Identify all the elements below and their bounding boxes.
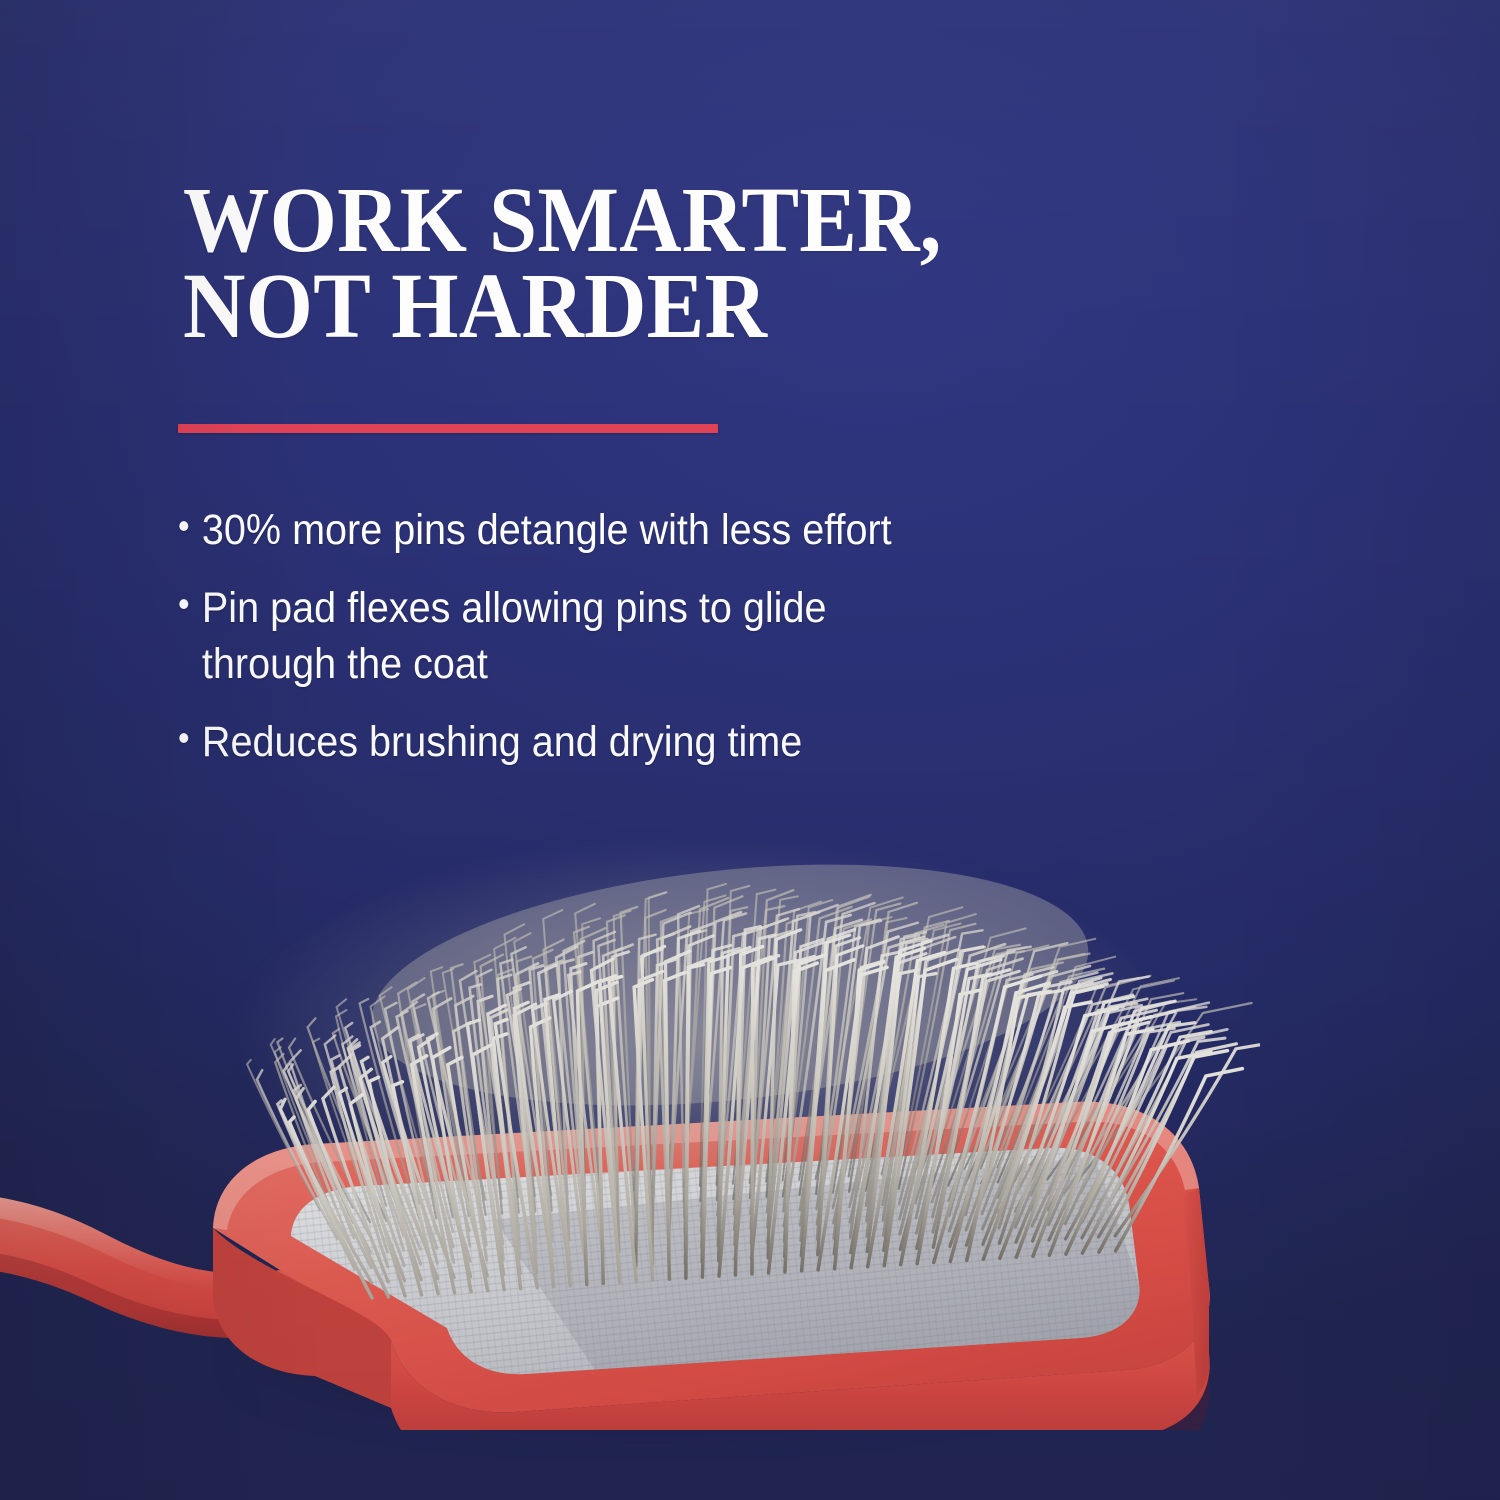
list-item: • Reduces brushing and drying time [178, 715, 1006, 771]
page-title: WORK SMARTER, NOT HARDER [183, 178, 1020, 349]
divider-rule [178, 424, 718, 433]
list-item: • 30% more pins detangle with less effor… [178, 503, 1006, 559]
headline-line-2: NOT HARDER [183, 264, 1020, 350]
bullet-dot-icon: • [178, 581, 202, 628]
list-item-label: 30% more pins detangle with less effort [202, 503, 1006, 559]
list-item-label: Pin pad flexes allowing pins to glide th… [202, 581, 877, 693]
benefits-list: • 30% more pins detangle with less effor… [178, 503, 1078, 793]
bullet-dot-icon: • [178, 715, 202, 762]
list-item-label: Reduces brushing and drying time [202, 715, 1006, 771]
product-feature-banner: WORK SMARTER, NOT HARDER • 30% more pins… [0, 0, 1500, 1500]
bullet-dot-icon: • [178, 503, 202, 550]
product-image [0, 810, 1260, 1450]
list-item: • Pin pad flexes allowing pins to glide … [178, 581, 877, 693]
brush-head [195, 1040, 1255, 1430]
